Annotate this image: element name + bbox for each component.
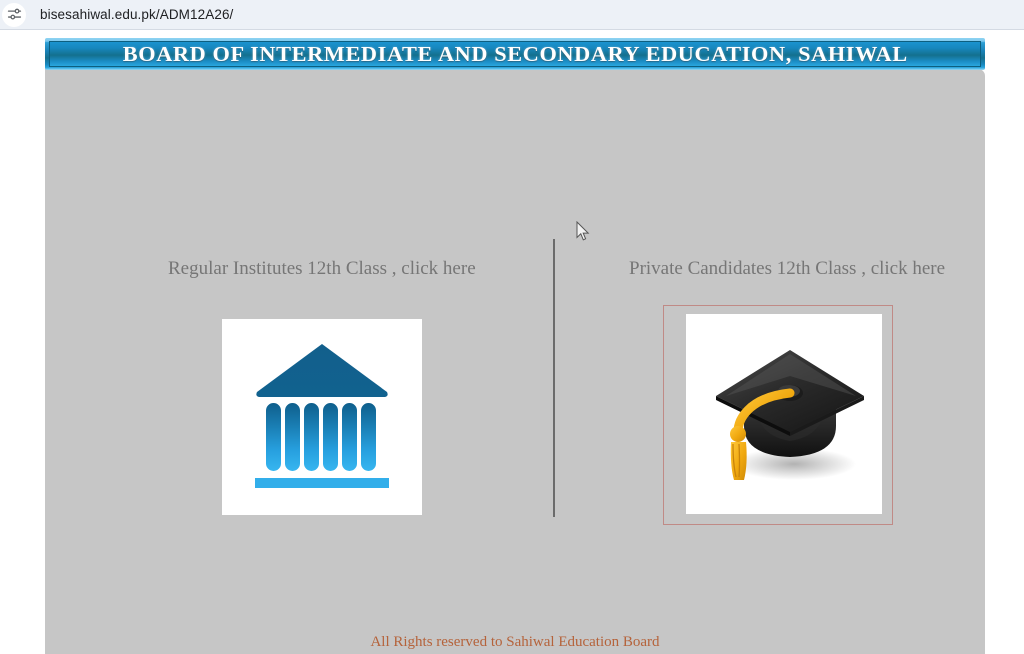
link-label-regular-institutes[interactable]: Regular Institutes 12th Class , click he… xyxy=(168,258,476,280)
page-header-banner: BOARD OF INTERMEDIATE AND SECONDARY EDUC… xyxy=(45,38,985,70)
private-candidates-image-link[interactable] xyxy=(686,314,882,514)
footer-copyright: All Rights reserved to Sahiwal Education… xyxy=(45,634,985,651)
graduation-cap-icon xyxy=(686,314,882,514)
page-viewport: Regular Institutes 12th Class , click he… xyxy=(0,31,1024,654)
column-divider xyxy=(553,239,555,517)
bank-institute-icon xyxy=(222,319,422,515)
page-body: Regular Institutes 12th Class , click he… xyxy=(45,69,985,654)
page-title: BOARD OF INTERMEDIATE AND SECONDARY EDUC… xyxy=(123,42,908,67)
tune-sliders-icon[interactable] xyxy=(2,3,26,27)
link-label-private-candidates[interactable]: Private Candidates 12th Class , click he… xyxy=(629,258,945,280)
browser-toolbar: bisesahiwal.edu.pk/ADM12A26/ xyxy=(0,0,1024,30)
private-candidates-link-frame[interactable] xyxy=(663,305,893,525)
regular-institutes-image-link[interactable] xyxy=(222,319,422,515)
address-bar-url[interactable]: bisesahiwal.edu.pk/ADM12A26/ xyxy=(40,7,233,22)
